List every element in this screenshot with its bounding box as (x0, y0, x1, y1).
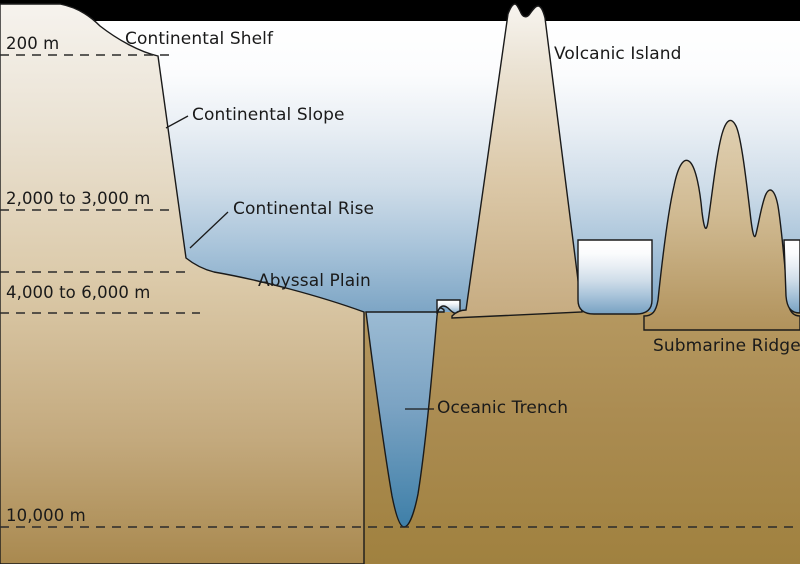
ocean-floor-diagram: 200 m 2,000 to 3,000 m 4,000 to 6,000 m … (0, 0, 800, 564)
feature-label-abyssal-plain: Abyssal Plain (258, 271, 371, 291)
feature-label-oceanic-trench: Oceanic Trench (437, 398, 568, 418)
depth-label-2000-3000m: 2,000 to 3,000 m (6, 189, 150, 208)
sky-band (0, 0, 800, 22)
depth-label-4000-6000m: 4,000 to 6,000 m (6, 283, 150, 302)
diagram-canvas (0, 0, 800, 564)
feature-label-submarine-ridge: Submarine Ridge (653, 336, 800, 356)
feature-label-continental-slope: Continental Slope (192, 105, 345, 125)
feature-label-continental-shelf: Continental Shelf (125, 29, 273, 49)
depth-label-200m: 200 m (6, 34, 59, 53)
water-gap-right (784, 240, 800, 313)
feature-label-continental-rise: Continental Rise (233, 199, 374, 219)
feature-label-volcanic-island: Volcanic Island (554, 44, 682, 64)
water-basin-mid (578, 240, 652, 314)
depth-label-10000m: 10,000 m (6, 506, 86, 525)
